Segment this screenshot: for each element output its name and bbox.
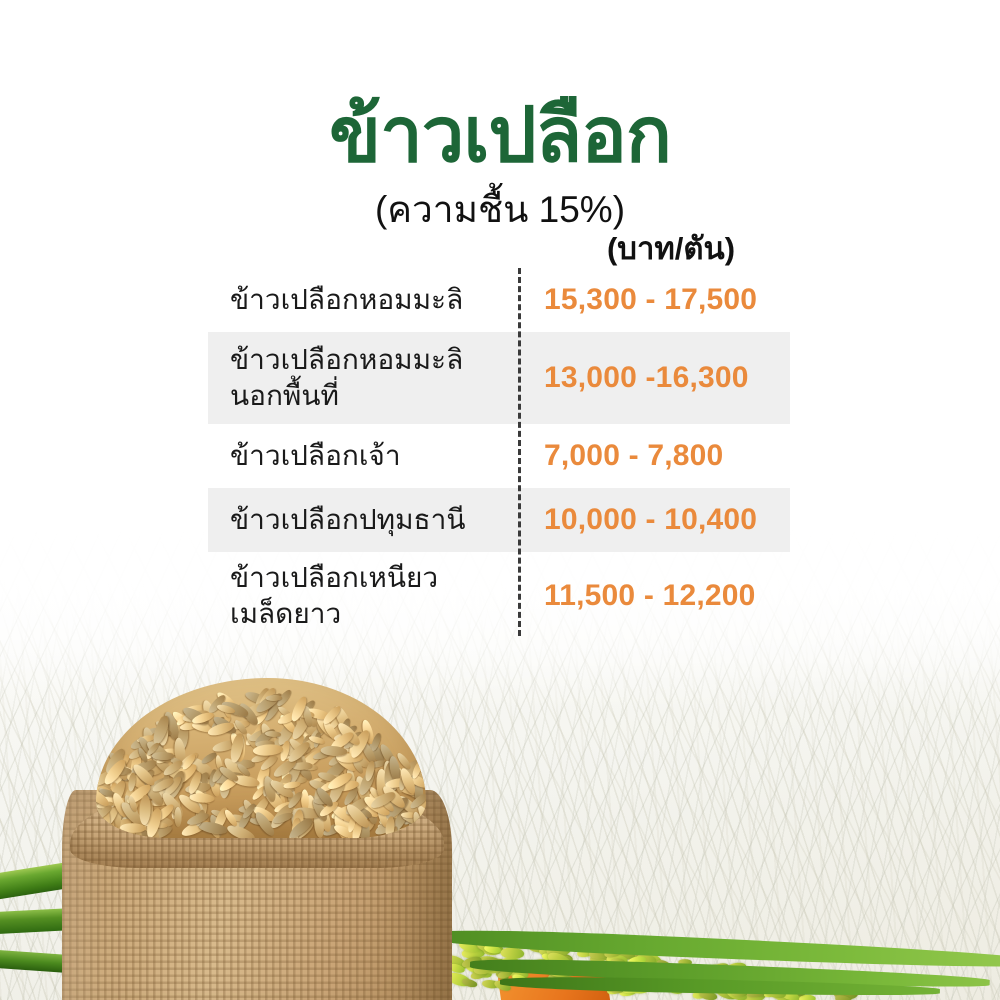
table-row: ข้าวเปลือกเจ้า 7,000 - 7,800: [208, 424, 790, 488]
rice-kernel: [174, 807, 182, 827]
rice-type-label: ข้าวเปลือกเจ้า: [208, 438, 518, 474]
price-value: 11,500 - 12,200: [518, 579, 790, 613]
moisture-subtitle: (ความชื้น 15%): [0, 190, 1000, 231]
table-row: ข้าวเปลือกปทุมธานี 10,000 - 10,400: [208, 488, 790, 552]
table-row: ข้าวเปลือกหอมมะลิ 15,300 - 17,500: [208, 268, 790, 332]
rice-type-label: ข้าวเปลือกหอมมะลินอกพื้นที่: [208, 342, 518, 414]
rice-kernel: [120, 823, 146, 833]
table-row: ข้าวเปลือกหอมมะลินอกพื้นที่ 13,000 -16,3…: [208, 332, 790, 424]
rice-type-label: ข้าวเปลือกหอมมะลิ: [208, 282, 518, 318]
table-row: ข้าวเปลือกเหนียวเมล็ดยาว 11,500 - 12,200: [208, 552, 790, 640]
rice-type-label: ข้าวเปลือกเหนียวเมล็ดยาว: [208, 560, 518, 632]
price-value: 10,000 - 10,400: [518, 503, 790, 537]
poster-root: ข้าวเปลือก (ความชื้น 15%) (บาท/ตัน) ข้าว…: [0, 0, 1000, 1000]
rice-kernel: [152, 751, 174, 760]
page-title: ข้าวเปลือก: [0, 96, 1000, 177]
rice-type-label: ข้าวเปลือกปทุมธานี: [208, 502, 518, 538]
price-value: 15,300 - 17,500: [518, 283, 790, 317]
table-column-divider: [518, 268, 521, 636]
price-table: ข้าวเปลือกหอมมะลิ 15,300 - 17,500 ข้าวเป…: [208, 268, 790, 640]
unit-header: (บาท/ตัน): [540, 232, 802, 266]
price-value: 13,000 -16,300: [518, 361, 790, 395]
price-value: 7,000 - 7,800: [518, 439, 790, 473]
